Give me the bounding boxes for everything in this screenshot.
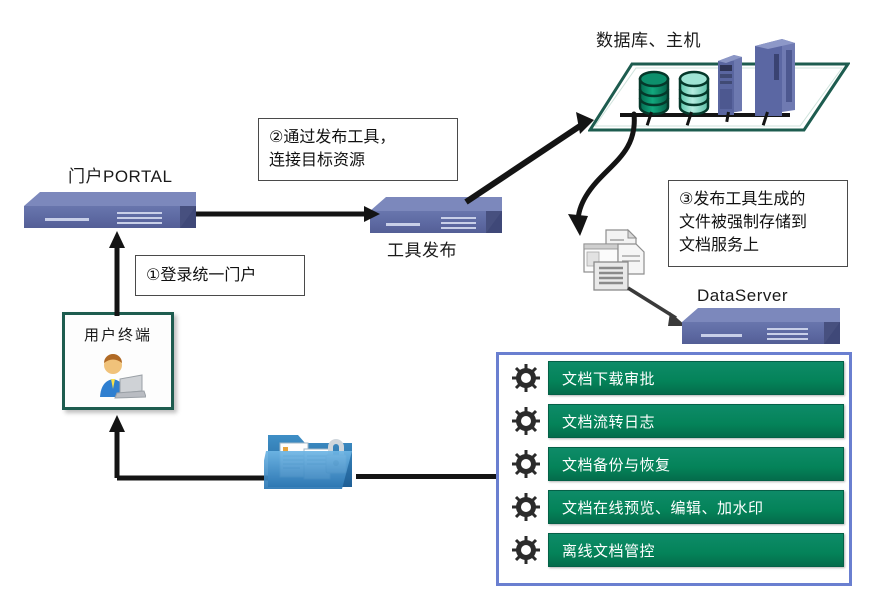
folder-to-terminal-arrow [104, 412, 284, 489]
callout-step-2: ②通过发布工具， 连接目标资源 [258, 118, 458, 181]
network-switch-icon-dataserver [682, 308, 840, 346]
services-panel: 文档下载审批 文档流转日志 [496, 352, 852, 586]
terminal-to-portal-arrow [104, 228, 130, 323]
diagram-canvas: 数据库、主机 ②通过发布工具， 连接目标资源 ③发布工具生成的 文件被强制存储到… [0, 0, 876, 594]
service-chip-5[interactable]: 离线文档管控 [548, 533, 844, 567]
network-switch-icon-portal [24, 192, 196, 232]
service-row-1[interactable]: 文档下载审批 [504, 358, 844, 398]
service-chip-4[interactable]: 文档在线预览、编辑、加水印 [548, 490, 844, 524]
folder-to-panel-line [356, 474, 498, 479]
service-row-5[interactable]: 离线文档管控 [504, 530, 844, 570]
portal-to-tool-arrow [196, 202, 382, 231]
service-row-3[interactable]: 文档备份与恢复 [504, 444, 844, 484]
dataserver-label: DataServer [697, 285, 788, 306]
document-stack-icon [578, 228, 652, 294]
user-laptop-icon [90, 353, 146, 406]
service-chip-1[interactable]: 文档下载审批 [548, 361, 844, 395]
gear-icon-2 [504, 407, 548, 435]
callout-step-3: ③发布工具生成的 文件被强制存储到 文档服务上 [668, 180, 848, 267]
tool-publish-label: 工具发布 [387, 240, 457, 261]
gear-icon-1 [504, 364, 548, 392]
user-terminal-label: 用户终端 [65, 327, 171, 346]
gear-icon-4 [504, 493, 548, 521]
server-tower-icon-large [752, 36, 798, 125]
portal-label: 门户PORTAL [68, 166, 172, 187]
secure-folder-icon [264, 421, 356, 495]
database-host-label: 数据库、主机 [596, 30, 701, 51]
callout-step-1: ①登录统一门户 [135, 255, 305, 296]
database-cylinder-icon-2 [676, 70, 714, 125]
service-chip-3[interactable]: 文档备份与恢复 [548, 447, 844, 481]
service-chip-2[interactable]: 文档流转日志 [548, 404, 844, 438]
gear-icon-5 [504, 536, 548, 564]
gear-icon-3 [504, 450, 548, 478]
service-row-2[interactable]: 文档流转日志 [504, 401, 844, 441]
service-row-4[interactable]: 文档在线预览、编辑、加水印 [504, 487, 844, 527]
user-terminal-box: 用户终端 [62, 312, 174, 410]
